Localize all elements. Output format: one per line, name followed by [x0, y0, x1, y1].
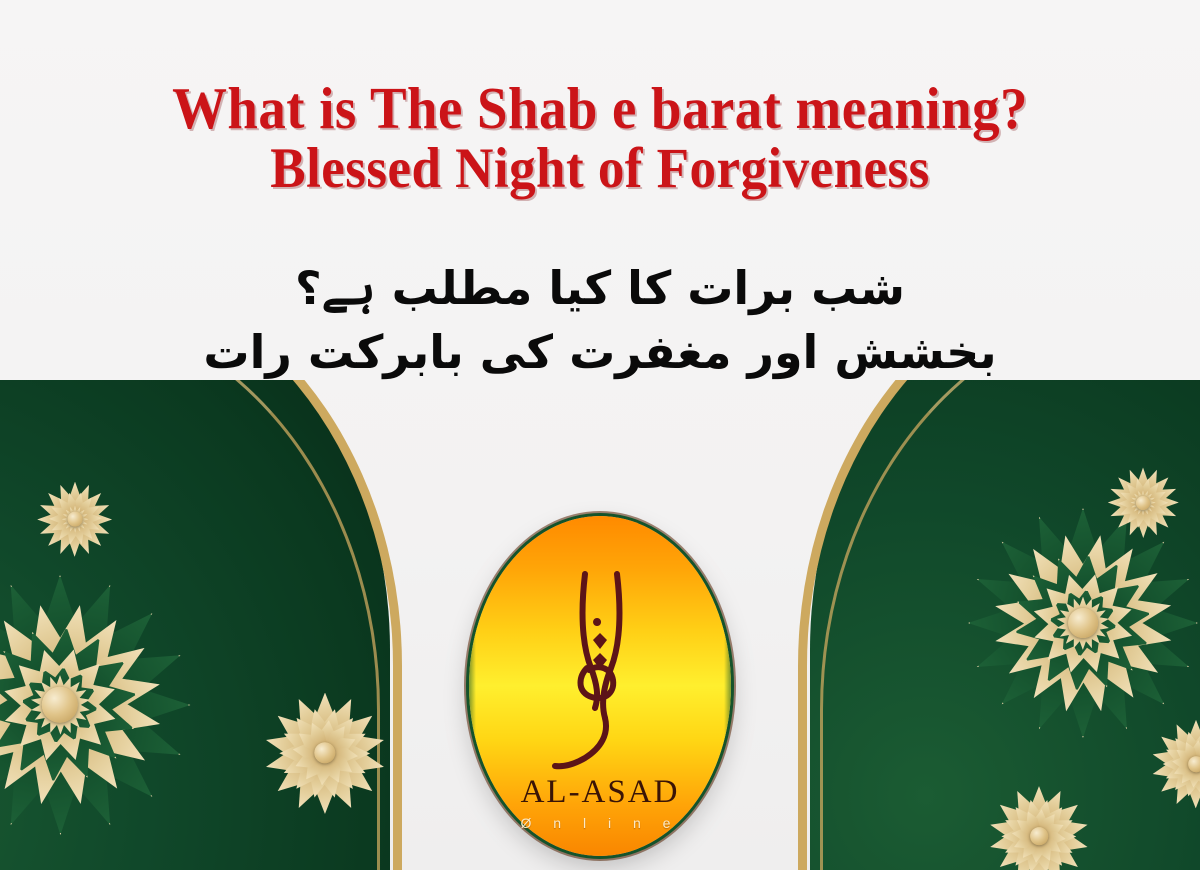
logo-brand-name: AL-ASAD — [469, 774, 731, 811]
cream-flower-bottom-right — [987, 784, 1091, 870]
al-asad-online-logo[interactable]: AL-ASAD Ø n l i n e — [469, 516, 731, 856]
mandala-flower-left — [0, 575, 190, 835]
mandala-ring — [0, 575, 190, 835]
urdu-title-line-2: بخشش اور مغفرت کی بابرکت رات — [0, 321, 1200, 383]
mandala-center — [68, 512, 83, 527]
rosette-left-arch — [36, 480, 114, 558]
cream-flower-right-edge — [1150, 718, 1200, 810]
english-title: What is The Shab e barat meaning? Blesse… — [0, 0, 1200, 200]
mandala-center — [1030, 827, 1048, 845]
headline-block: What is The Shab e barat meaning? Blesse… — [0, 0, 1200, 384]
urdu-title-line-1: شب برات کا کیا مطلب ہے؟ — [0, 200, 1200, 322]
mandala-flower-right — [968, 508, 1198, 738]
rosette-right-arch — [1106, 466, 1180, 540]
logo-tagline: Ø n l i n e — [469, 815, 731, 831]
arabic-calligraphy-mark-icon — [541, 568, 659, 774]
english-title-line-2: Blessed Night of Forgiveness — [42, 138, 1158, 200]
mandala-center — [1136, 496, 1150, 510]
cream-flower-bottom-left — [262, 690, 388, 816]
shab-e-barat-banner: What is The Shab e barat meaning? Blesse… — [0, 0, 1200, 870]
english-title-line-1: What is The Shab e barat meaning? — [42, 0, 1158, 138]
mandala-center — [1188, 756, 1200, 772]
mandala-center — [1068, 608, 1098, 638]
urdu-title: شب برات کا کیا مطلب ہے؟ بخشش اور مغفرت ک… — [0, 200, 1200, 384]
